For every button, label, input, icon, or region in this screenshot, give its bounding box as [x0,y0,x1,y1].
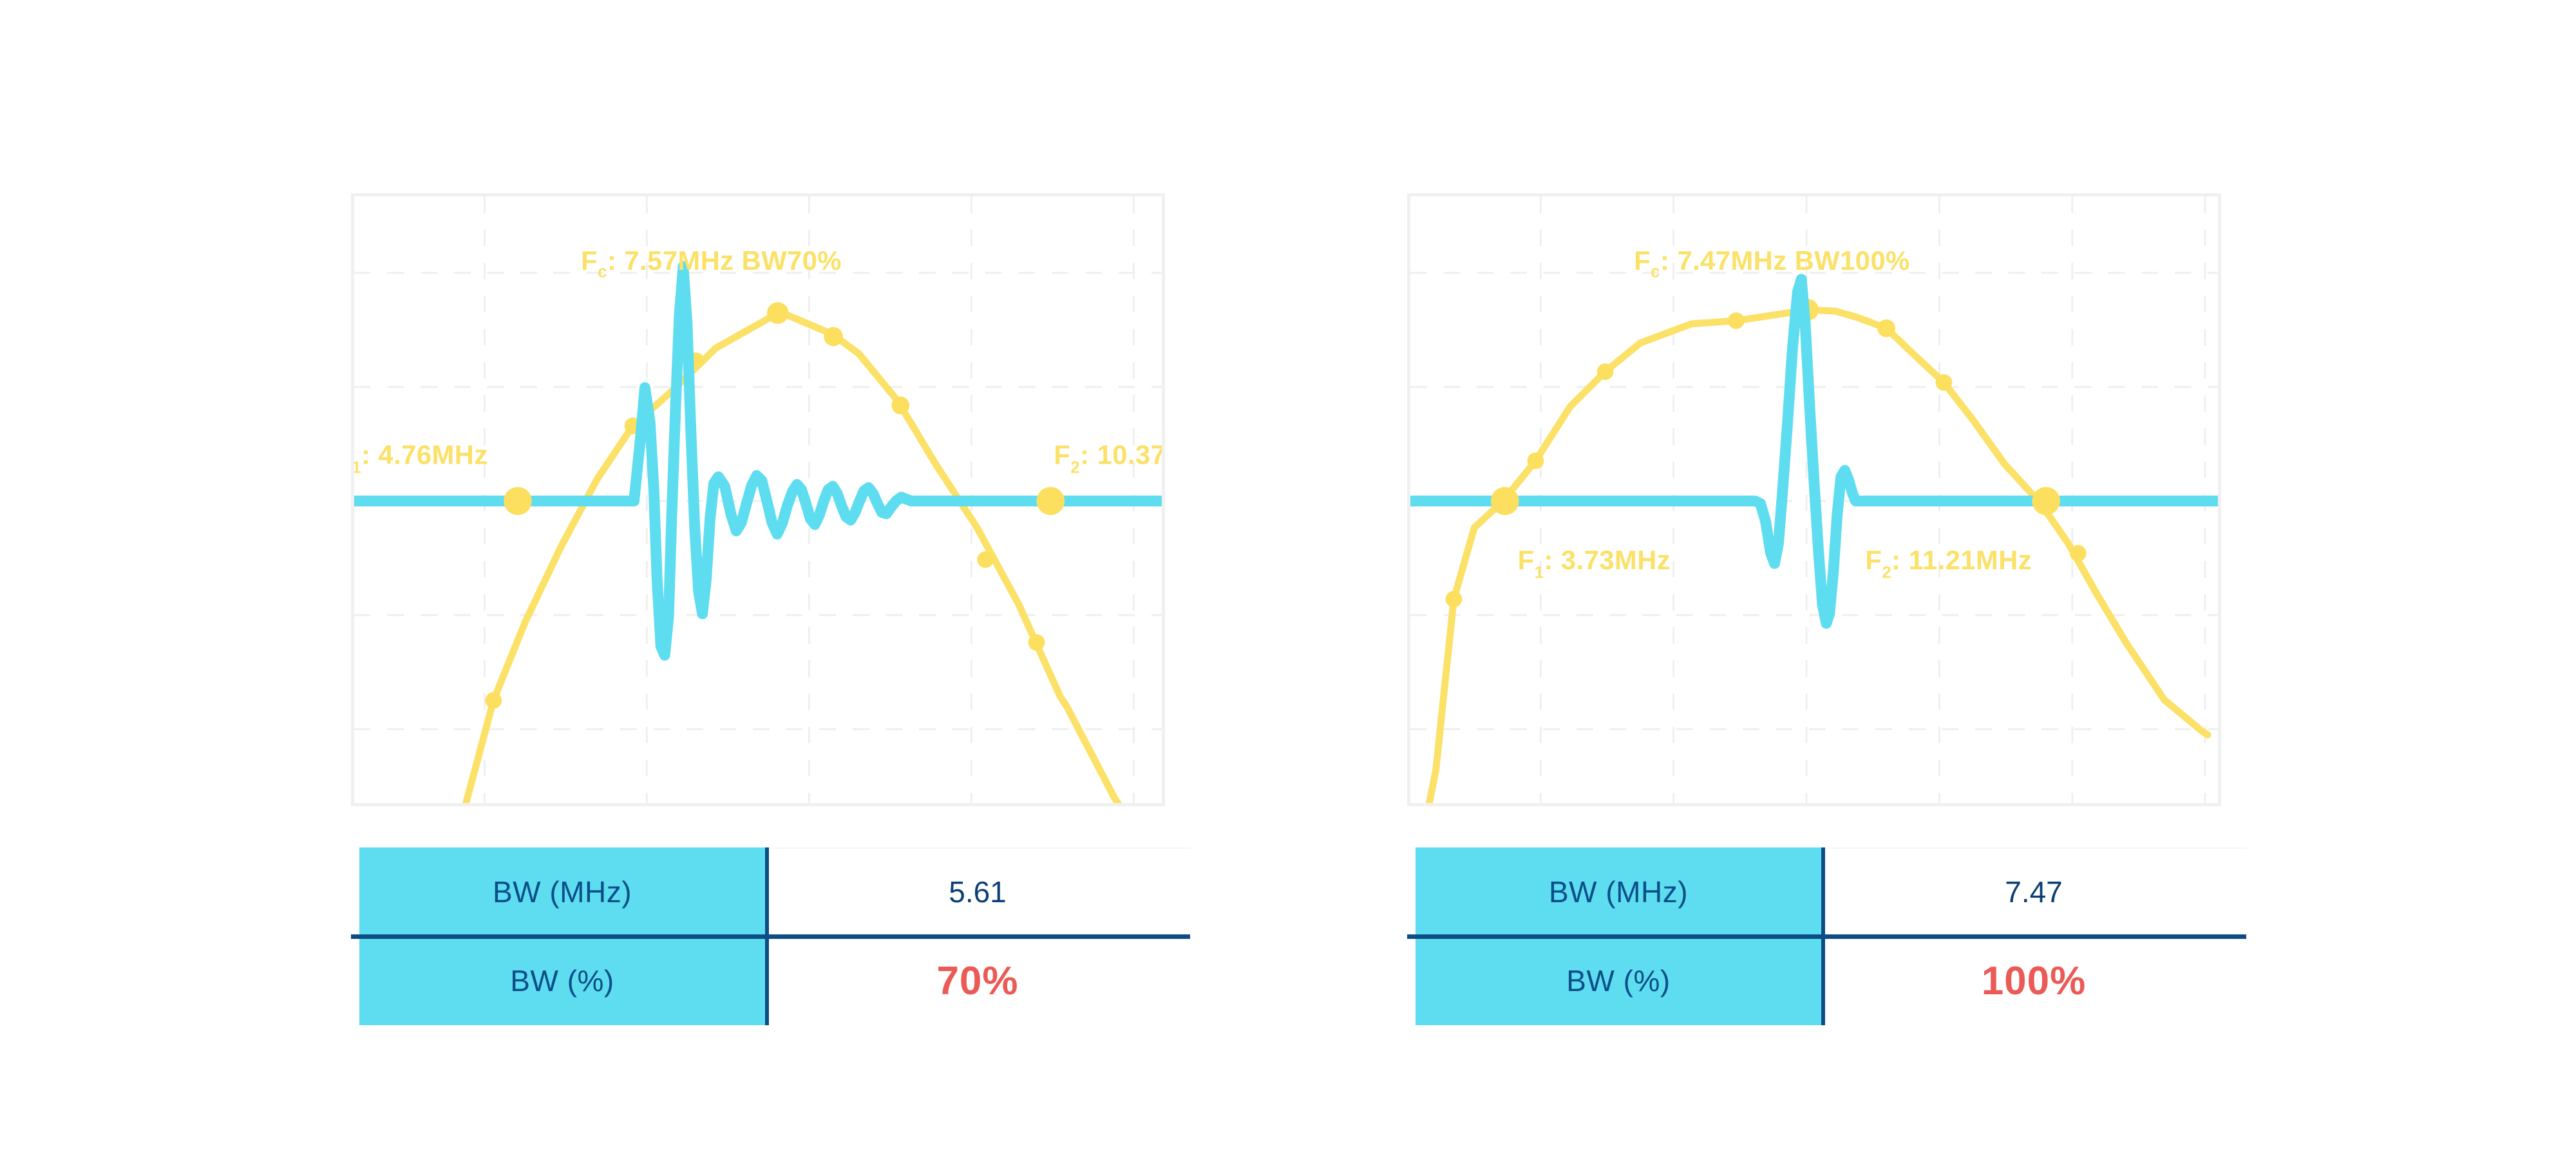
bw-table-right: BW (MHz) BW (%) 7.47 100% [1416,847,2246,1028]
table-top-rule-right [1825,847,2246,849]
annotation-fc-right: Fc: 7.47MHz BW100% [1634,245,1909,281]
svg-text:Fc: 7.47MHz BW100%: Fc: 7.47MHz BW100% [1634,245,1909,281]
f2-text-right: : 11.21MHz [1891,545,2032,575]
chart-left: Fc: 7.57MHz BW70% F1: 4.76MHz F2: 10.37M… [354,196,1162,803]
fc-sub-right: c [1651,263,1660,281]
table-row-label-bw-mhz-left: BW (MHz) [359,847,765,936]
svg-text:F1: 3.73MHz: F1: 3.73MHz [1518,545,1671,582]
plot-frame-left: Fc: 7.57MHz BW70% F1: 4.76MHz F2: 10.37M… [351,193,1165,806]
f1-sub-left: 1 [354,459,361,477]
f2-sub-right: 2 [1882,564,1891,582]
svg-text:F1: 4.76MHz: F1: 4.76MHz [354,440,488,477]
f1-text-right: : 3.73MHz [1544,545,1671,575]
f1-text-left: : 4.76MHz [361,440,488,470]
fc-prefix-right: F [1634,245,1651,276]
f2-prefix-left: F [1054,440,1070,470]
f2-text-left: : 10.37MHz [1080,440,1162,470]
table-top-rule-left [769,847,1190,849]
chart-right: Fc: 7.47MHz BW100% F1: 3.73MHz F2: 11.21… [1410,196,2218,803]
fc-text-left: : 7.57MHz BW70% [607,245,842,276]
table-row-value-bw-mhz-right: 7.47 [1821,847,2246,936]
table-row-label-bw-percent-right: BW (%) [1416,936,1821,1025]
table-row-value-bw-percent-right: 100% [1821,936,2246,1025]
table-row-value-bw-mhz-left: 5.61 [765,847,1190,936]
svg-text:F2: 10.37MHz: F2: 10.37MHz [1054,440,1162,477]
table-row-label-bw-percent-left: BW (%) [359,936,765,1025]
annotation-f1-left: F1: 4.76MHz [354,440,488,477]
annotation-f2-left: F2: 10.37MHz [1054,440,1162,477]
bw-table-left: BW (MHz) BW (%) 5.61 70% [359,847,1190,1028]
svg-text:F2: 11.21MHz: F2: 11.21MHz [1865,545,2032,582]
annotation-f2-right: F2: 11.21MHz [1865,545,2032,582]
table-row-value-bw-percent-left: 70% [765,936,1190,1025]
plot-frame-right: Fc: 7.47MHz BW100% F1: 3.73MHz F2: 11.21… [1407,193,2221,806]
f2-sub-left: 2 [1070,459,1080,477]
fc-sub-left: c [598,263,607,281]
f2-prefix-right: F [1865,545,1882,575]
svg-text:Fc: 7.57MHz BW70%: Fc: 7.57MHz BW70% [581,245,842,281]
table-horizontal-divider-right [1407,934,2246,939]
panel-left: Fc: 7.57MHz BW70% F1: 4.76MHz F2: 10.37M… [351,193,1169,1030]
annotation-fc-left: Fc: 7.57MHz BW70% [581,245,842,281]
f1-prefix-right: F [1518,545,1535,575]
fc-prefix-left: F [581,245,598,276]
table-horizontal-divider-left [351,934,1190,939]
fc-text-right: : 7.47MHz BW100% [1660,245,1910,276]
table-row-label-bw-mhz-right: BW (MHz) [1416,847,1821,936]
panel-right: Fc: 7.47MHz BW100% F1: 3.73MHz F2: 11.21… [1407,193,2225,1030]
f1-sub-right: 1 [1535,564,1544,582]
figure-canvas: Fc: 7.57MHz BW70% F1: 4.76MHz F2: 10.37M… [0,0,2576,1154]
annotation-f1-right: F1: 3.73MHz [1518,545,1671,582]
